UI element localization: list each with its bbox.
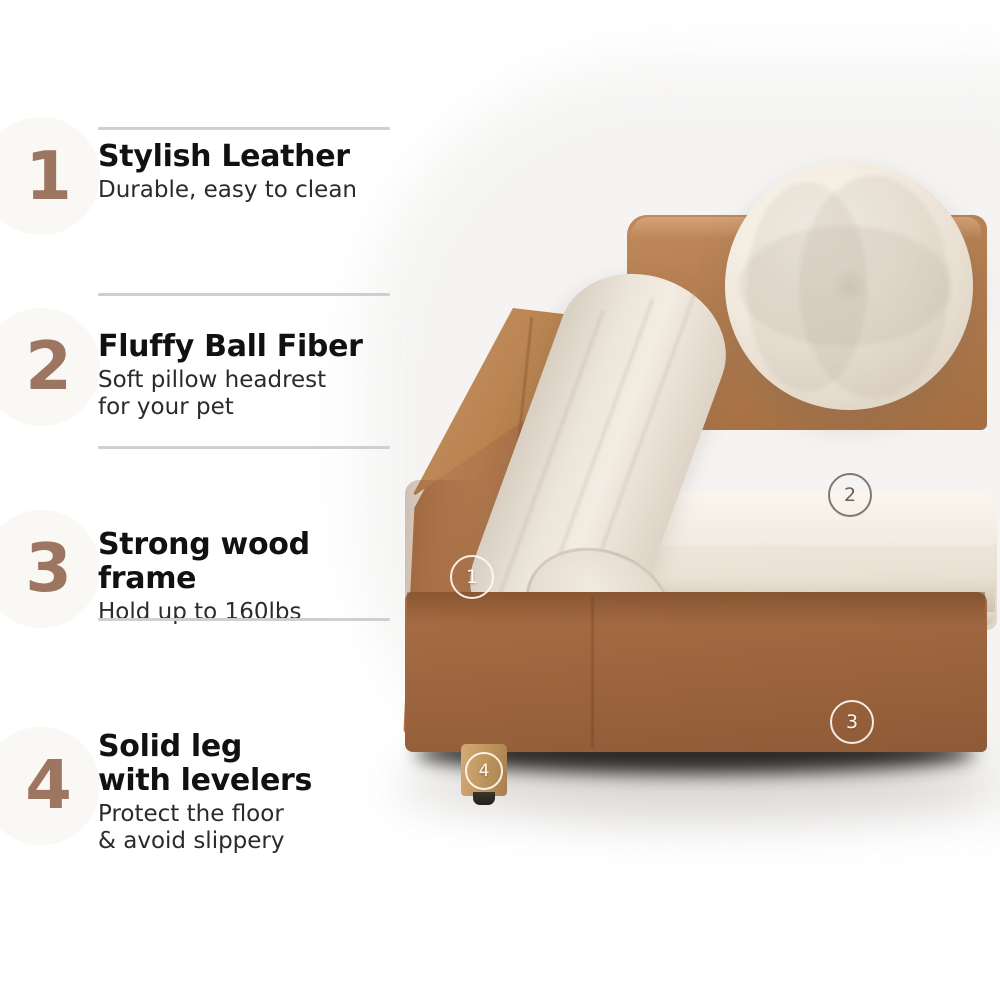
callout-badge-2: 2 xyxy=(828,473,872,517)
callout-badge-3: 3 xyxy=(830,700,874,744)
feature-text-3: Strong wood frame Hold up to 160lbs xyxy=(98,528,398,626)
feature-number-3: 3 xyxy=(0,535,96,602)
base-frame-seam xyxy=(591,596,594,748)
base-frame-shading xyxy=(407,592,985,626)
callout-badge-1: 1 xyxy=(450,555,494,599)
feature-subtitle-3: Hold up to 160lbs xyxy=(98,599,398,626)
feature-list: 1 Stylish Leather Durable, easy to clean… xyxy=(0,0,410,1000)
feature-subtitle-2: Soft pillow headrest for your pet xyxy=(98,367,398,421)
feature-text-1: Stylish Leather Durable, easy to clean xyxy=(98,140,398,204)
feature-number-4: 4 xyxy=(0,752,96,819)
feature-divider-3 xyxy=(98,446,390,449)
feature-title-3: Strong wood frame xyxy=(98,528,398,596)
feature-text-2: Fluffy Ball Fiber Soft pillow headrest f… xyxy=(98,330,398,421)
feature-subtitle-1: Durable, easy to clean xyxy=(98,177,398,204)
feature-divider-4 xyxy=(98,618,390,621)
callout-badge-4: 4 xyxy=(465,752,503,790)
product-image-leather-pet-sofa: 1 2 3 4 xyxy=(395,120,1000,850)
feature-number-1: 1 xyxy=(0,143,96,210)
feature-divider-1 xyxy=(98,127,390,130)
ball-pillow-center-tuft xyxy=(831,268,867,304)
floor-leveler xyxy=(473,792,495,805)
infographic-page: 1 Stylish Leather Durable, easy to clean… xyxy=(0,0,1000,1000)
feature-subtitle-4: Protect the floor & avoid slippery xyxy=(98,801,398,855)
feature-title-2: Fluffy Ball Fiber xyxy=(98,330,398,364)
feature-title-1: Stylish Leather xyxy=(98,140,398,174)
feature-title-4: Solid leg with levelers xyxy=(98,730,398,798)
feature-number-2: 2 xyxy=(0,333,96,400)
feature-divider-2 xyxy=(98,293,390,296)
feature-text-4: Solid leg with levelers Protect the floo… xyxy=(98,730,398,855)
